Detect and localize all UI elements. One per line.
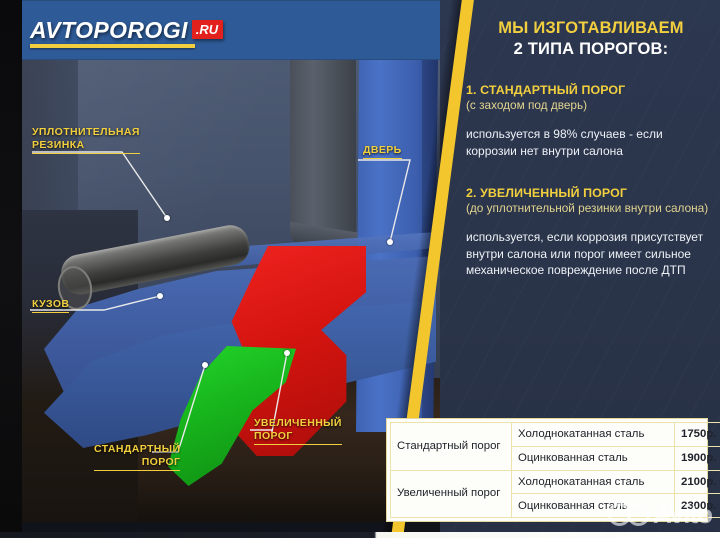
- section-enlarged-body: используется, если коррозия присутствует…: [466, 229, 716, 279]
- label-standard-sill-line2: ПОРОГ: [94, 456, 180, 471]
- label-door: ДВЕРЬ: [363, 144, 402, 159]
- label-standard-sill-line1: СТАНДАРТНЫЙ: [94, 443, 180, 455]
- price-row-price: 1900р.: [675, 446, 720, 470]
- section-enlarged: 2. УВЕЛИЧЕННЫЙ ПОРОГ (до уплотнительной …: [466, 185, 716, 279]
- price-row-price: 2100р.: [675, 470, 720, 494]
- price-row-price: 2300р.: [675, 494, 720, 518]
- label-standard-sill: СТАНДАРТНЫЙ ПОРОГ: [94, 443, 180, 471]
- section-standard-sub: (с заходом под дверь): [466, 98, 716, 113]
- section-enlarged-heading: 2. УВЕЛИЧЕННЫЙ ПОРОГ: [466, 185, 716, 201]
- label-rubber-seal-line2: РЕЗИНКА: [32, 139, 140, 154]
- label-door-line1: ДВЕРЬ: [363, 144, 402, 159]
- section-standard-body: используется в 98% случаев - если корроз…: [466, 126, 716, 159]
- price-row-material: Холоднокатанная сталь: [512, 470, 675, 494]
- leader-dot-door: [387, 239, 393, 245]
- left-dark-edge: [0, 0, 22, 538]
- promo-poster: УПЛОТНИТЕЛЬНАЯ РЕЗИНКА ДВЕРЬ КУЗОВ СТАНД…: [0, 0, 720, 538]
- site-logo-underline: [30, 44, 195, 48]
- price-row-name: Увеличенный порог: [391, 470, 512, 518]
- leader-dot-standard: [202, 362, 208, 368]
- price-table: Стандартный порог Холоднокатанная сталь …: [386, 418, 708, 522]
- price-row-material: Оцинкованная сталь: [512, 494, 675, 518]
- price-row-material: Холоднокатанная сталь: [512, 423, 675, 447]
- label-body: КУЗОВ: [32, 298, 69, 313]
- site-logo-word: AVTOPOROGI: [30, 18, 188, 42]
- label-enlarged-sill: УВЕЛИЧЕННЫЙ ПОРОГ: [254, 417, 342, 445]
- label-rubber-seal-line1: УПЛОТНИТЕЛЬНАЯ: [32, 126, 140, 138]
- table-row: Увеличенный порог Холоднокатанная сталь …: [391, 470, 720, 494]
- site-logo[interactable]: AVTOPOROGI .RU: [30, 18, 223, 42]
- bottom-edge-strip: [0, 532, 720, 538]
- table-row: Стандартный порог Холоднокатанная сталь …: [391, 423, 720, 447]
- price-row-price: 1750р.: [675, 423, 720, 447]
- price-row-name: Стандартный порог: [391, 423, 512, 471]
- label-enlarged-sill-line2: ПОРОГ: [254, 430, 342, 445]
- site-logo-tld: .RU: [192, 20, 223, 39]
- leader-dot-seal: [164, 215, 170, 221]
- label-body-line1: КУЗОВ: [32, 298, 69, 313]
- label-enlarged-sill-line1: УВЕЛИЧЕННЫЙ: [254, 417, 342, 429]
- page-title: МЫ ИЗГОТАВЛИВАЕМ 2 ТИПА ПОРОГОВ:: [466, 18, 716, 60]
- price-row-material: Оцинкованная сталь: [512, 446, 675, 470]
- label-rubber-seal: УПЛОТНИТЕЛЬНАЯ РЕЗИНКА: [32, 126, 140, 154]
- section-standard-heading: 1. СТАНДАРТНЫЙ ПОРОГ: [466, 82, 716, 98]
- leader-dot-enlarged: [284, 350, 290, 356]
- page-title-line2: 2 ТИПА ПОРОГОВ:: [466, 39, 716, 60]
- leader-dot-body: [157, 293, 163, 299]
- page-title-line1: МЫ ИЗГОТАВЛИВАЕМ: [466, 18, 716, 39]
- section-standard: 1. СТАНДАРТНЫЙ ПОРОГ (с заходом под двер…: [466, 82, 716, 159]
- section-enlarged-sub: (до уплотнительной резинки внутри салона…: [466, 201, 716, 216]
